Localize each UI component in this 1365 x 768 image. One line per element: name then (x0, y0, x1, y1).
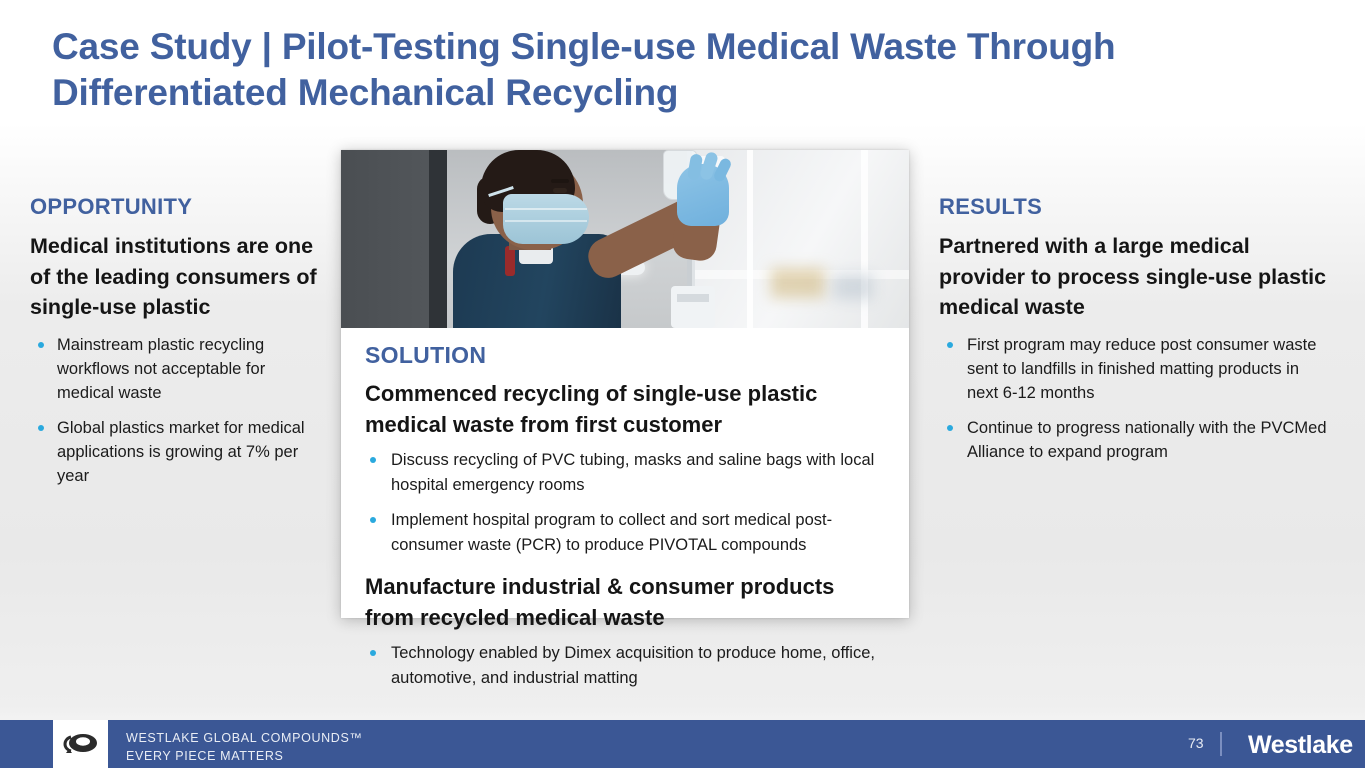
slide-canvas: Case Study | Pilot-Testing Single-use Me… (0, 0, 1365, 768)
results-bullet-list: First program may reduce post consumer w… (939, 333, 1334, 464)
footer-divider (1220, 732, 1222, 756)
opportunity-subhead: Medical institutions are one of the lead… (30, 231, 320, 323)
footer-line-1: WESTLAKE GLOBAL COMPOUNDS™ (126, 729, 363, 747)
results-column: RESULTS Partnered with a large medical p… (939, 194, 1334, 475)
list-item: Implement hospital program to collect an… (365, 508, 887, 557)
solution-block1-bullet-list: Discuss recycling of PVC tubing, masks a… (365, 448, 887, 557)
page-title: Case Study | Pilot-Testing Single-use Me… (52, 24, 1172, 116)
solution-heading: SOLUTION (365, 342, 887, 369)
footer-line-2: EVERY PIECE MATTERS (126, 747, 363, 765)
solution-block1-subhead: Commenced recycling of single-use plasti… (365, 378, 887, 440)
solution-block2-subhead: Manufacture industrial & consumer produc… (365, 571, 887, 633)
nurse-adjusting-iv-bag-photo (341, 150, 909, 328)
list-item: Global plastics market for medical appli… (30, 416, 320, 488)
solution-block2-bullet-list: Technology enabled by Dimex acquisition … (365, 641, 887, 690)
solution-card: SOLUTION Commenced recycling of single-u… (341, 150, 909, 618)
footer-tagline: WESTLAKE GLOBAL COMPOUNDS™ EVERY PIECE M… (126, 729, 363, 765)
results-heading: RESULTS (939, 194, 1334, 220)
westlake-wordmark: Westlake (1248, 731, 1353, 760)
list-item: Continue to progress nationally with the… (939, 416, 1334, 464)
opportunity-heading: OPPORTUNITY (30, 194, 320, 220)
list-item: Mainstream plastic recycling workflows n… (30, 333, 320, 405)
slide-footer: WESTLAKE GLOBAL COMPOUNDS™ EVERY PIECE M… (0, 720, 1365, 768)
results-subhead: Partnered with a large medical provider … (939, 231, 1334, 323)
opportunity-column: OPPORTUNITY Medical institutions are one… (30, 194, 320, 499)
westlake-coil-logo (53, 720, 108, 768)
list-item: First program may reduce post consumer w… (939, 333, 1334, 405)
list-item: Discuss recycling of PVC tubing, masks a… (365, 448, 887, 497)
list-item: Technology enabled by Dimex acquisition … (365, 641, 887, 690)
solution-body: SOLUTION Commenced recycling of single-u… (341, 328, 909, 690)
page-number: 73 (1188, 735, 1204, 751)
opportunity-bullet-list: Mainstream plastic recycling workflows n… (30, 333, 320, 488)
